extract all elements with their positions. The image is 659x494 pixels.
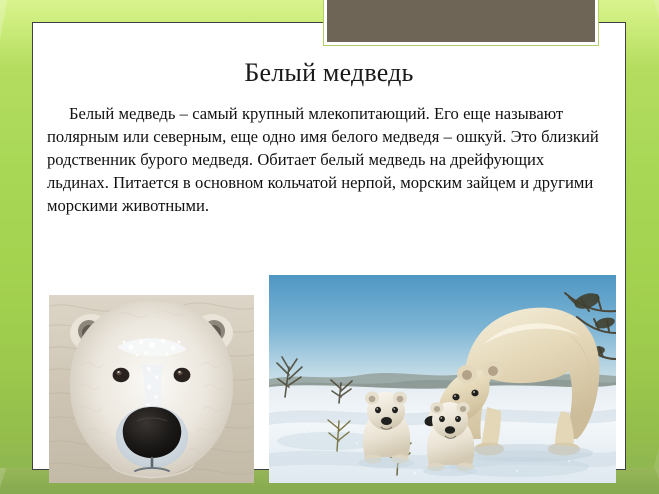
photo-polar-bear-face [49,295,254,483]
polar-bear-family-illustration [269,275,616,483]
top-decorative-plate-fill [327,0,595,42]
content-panel: Белый медведь Белый медведь – самый круп… [32,22,626,470]
photo-row [33,251,625,471]
presentation-slide: Белый медведь Белый медведь – самый круп… [0,0,659,494]
photo-polar-bear-family [269,275,616,483]
polar-bear-face-illustration [49,295,254,483]
top-decorative-plate [323,0,599,46]
body-paragraph: Белый медведь – самый крупный млекопитаю… [33,88,625,218]
